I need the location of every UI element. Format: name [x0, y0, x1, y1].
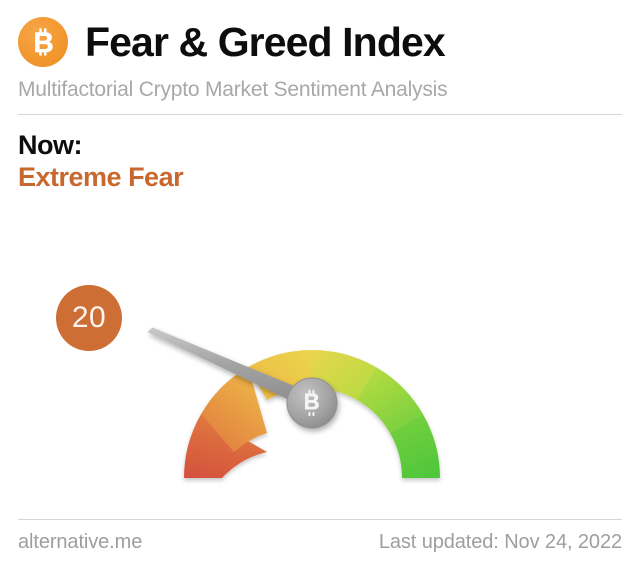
- header-divider: [18, 114, 622, 115]
- status-block: Now: Extreme Fear: [18, 130, 183, 194]
- footer: alternative.me Last updated: Nov 24, 202…: [18, 531, 622, 554]
- gauge-value-badge: 20: [56, 285, 122, 351]
- fear-greed-index-card: Fear & Greed Index Multifactorial Crypto…: [0, 0, 640, 575]
- status-label: Now:: [18, 130, 183, 162]
- brand-row: Fear & Greed Index: [18, 14, 622, 70]
- bitcoin-icon: [18, 17, 68, 67]
- header: Fear & Greed Index Multifactorial Crypto…: [18, 14, 622, 114]
- status-value: Extreme Fear: [18, 162, 183, 194]
- footer-divider: [18, 519, 622, 520]
- page-subtitle: Multifactorial Crypto Market Sentiment A…: [18, 79, 622, 100]
- page-title: Fear & Greed Index: [85, 22, 445, 63]
- source-label: alternative.me: [18, 531, 142, 554]
- last-updated-label: Last updated: Nov 24, 2022: [379, 531, 622, 554]
